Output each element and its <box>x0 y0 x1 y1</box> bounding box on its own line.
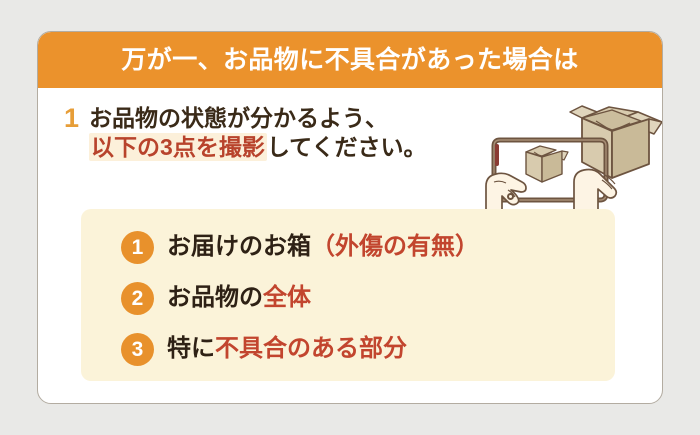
list-item: 3 特に不具合のある部分 <box>121 325 479 373</box>
list-item-1-plain: お届けのお箱 <box>167 233 311 260</box>
page-title: 万が一、お品物に不具合があった場合は <box>121 48 578 73</box>
list-item-badge-3: 3 <box>121 333 154 366</box>
header-banner: 万が一、お品物に不具合があった場合は <box>38 32 662 88</box>
list-item-3-accent: 不具合のある部分 <box>215 335 407 362</box>
list-item: 1 お届けのお箱（外傷の有無） <box>121 223 479 271</box>
list-item-text-2: お品物の全体 <box>167 286 311 310</box>
step-1-lines: お品物の状態が分かるよう、 以下の3点を撮影してください。 <box>89 104 426 163</box>
list-item-2-accent: 全体 <box>263 284 311 311</box>
list-item-3-plain: 特に <box>167 335 215 362</box>
list-item-2-plain: お品物の <box>167 284 263 311</box>
photo-checklist: 1 お届けのお箱（外傷の有無） 2 お品物の全体 3 特に不具合のある部分 <box>121 223 479 373</box>
photo-checklist-panel: 1 お届けのお箱（外傷の有無） 2 お品物の全体 3 特に不具合のある部分 <box>81 209 615 381</box>
list-item-text-1: お届けのお箱（外傷の有無） <box>167 235 479 259</box>
list-item-text-3: 特に不具合のある部分 <box>167 337 407 361</box>
list-item-badge-1: 1 <box>121 231 154 264</box>
step-1-line-2-rest: してください。 <box>267 134 427 160</box>
step-1-highlight: 以下の3点を撮影 <box>89 133 267 161</box>
step-1-line-2: 以下の3点を撮影してください。 <box>89 133 426 162</box>
list-item-badge-2: 2 <box>121 282 154 315</box>
decorative-dot-icon <box>507 193 514 200</box>
step-1-number: 1 <box>64 104 79 132</box>
list-item: 2 お品物の全体 <box>121 274 479 322</box>
list-item-1-accent: （外傷の有無） <box>311 233 479 260</box>
step-1-row: 1 お品物の状態が分かるよう、 以下の3点を撮影してください。 <box>64 104 534 163</box>
step-1-line-1: お品物の状態が分かるよう、 <box>89 104 426 133</box>
notice-card: 万が一、お品物に不具合があった場合は <box>37 31 663 404</box>
step-1: 1 お品物の状態が分かるよう、 以下の3点を撮影してください。 <box>64 104 534 163</box>
